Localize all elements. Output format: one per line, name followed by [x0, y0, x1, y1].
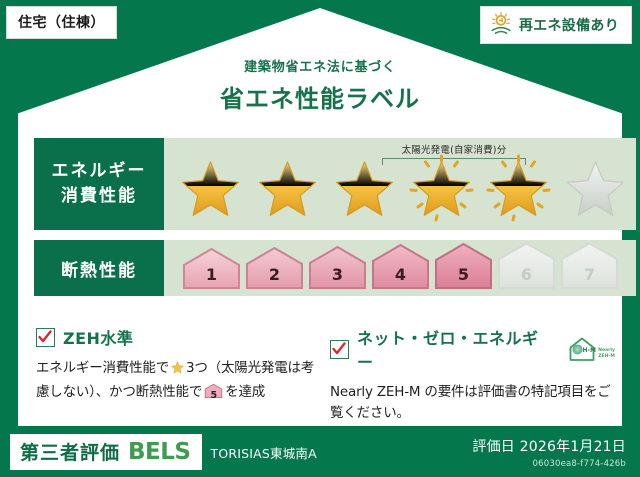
net-zero-checkbox[interactable]: [330, 340, 349, 359]
insulation-level-6: 6: [495, 243, 558, 293]
insulation-level-4-number: 4: [369, 265, 432, 284]
energy-performance-label: 住宅（住棟） 再エネ設備あり 建築物省エ: [0, 0, 640, 477]
inline-house-number: 5: [204, 388, 223, 403]
insulation-level-1: 1: [180, 243, 243, 293]
dwelling-type-tag: 住宅（住棟）: [6, 6, 117, 39]
star-6-empty: [557, 152, 634, 224]
insulation-label-box: 断熱性能: [34, 240, 164, 296]
zeh-m-caption-line2: ZEH-M: [598, 354, 615, 359]
energy-stars-area: 太陽光発電(自家消費)分: [164, 138, 636, 230]
footer-bar: 第三者評価 BELS TORISIAS東城南A 評価日 2026年1月21日 0…: [0, 427, 640, 477]
renewable-energy-badge: 再エネ設備あり: [480, 6, 632, 44]
inline-house-badge: 5: [204, 383, 223, 400]
zeh-desc-part1: エネルギー消費性能で: [36, 360, 169, 376]
insulation-level-5-achieved: 5: [432, 243, 495, 293]
insulation-level-2: 2: [243, 243, 306, 293]
insulation-performance-row: 断熱性能 1: [34, 240, 636, 296]
energy-performance-label-box: エネルギー 消費性能: [34, 138, 164, 230]
star-3: [326, 152, 403, 224]
zeh-desc-part3: を達成: [225, 384, 265, 400]
insulation-level-7: 7: [558, 243, 621, 293]
evaluation-id: 06030ea8-f774-426b: [472, 459, 626, 469]
net-zero-criteria-title: ネット・ゼロ・エネルギー: [357, 325, 553, 373]
energy-label-line1: エネルギー: [52, 159, 147, 184]
zeh-criteria-block: ZEH水準 エネルギー消費性能で 3つ（太陽光発電は考慮しない）、かつ断熱性能で…: [36, 325, 321, 404]
insulation-level-4: 4: [369, 243, 432, 293]
star-4-solar: [403, 152, 480, 224]
renewable-badge-label: 再エネ設備あり: [519, 15, 619, 35]
star-rating: [172, 152, 634, 224]
insulation-level-scale: 1 2: [180, 243, 621, 293]
evaluation-date: 評価日 2026年1月21日: [472, 436, 626, 456]
insulation-level-3-number: 3: [306, 265, 369, 284]
insulation-level-1-number: 1: [180, 265, 243, 284]
net-zero-energy-criteria-block: ネット・ゼロ・エネルギー H-M Nearly ZEH-M: [330, 325, 615, 425]
insulation-level-5-number: 5: [432, 265, 495, 284]
zeh-criteria-description: エネルギー消費性能で 3つ（太陽光発電は考慮しない）、かつ断熱性能で 5を達成: [36, 358, 321, 404]
energy-label-line2: 消費性能: [61, 184, 137, 209]
net-zero-criteria-description: Nearly ZEH-M の要件は評価書の特記項目をご覧ください。: [330, 382, 615, 425]
star-5-solar: [480, 152, 557, 224]
net-zero-criteria-header: ネット・ゼロ・エネルギー H-M Nearly ZEH-M: [330, 325, 615, 373]
label-title: 建築物省エネ法に基づく 省エネ性能ラベル: [0, 56, 640, 114]
insulation-level-7-number: 7: [558, 265, 621, 284]
building-name: TORISIAS東城南A: [210, 443, 316, 462]
insulation-label-text: 断熱性能: [61, 256, 137, 281]
bels-certification-box: 第三者評価 BELS: [10, 434, 202, 470]
zeh-checkbox[interactable]: [36, 328, 55, 347]
insulation-level-6-number: 6: [495, 265, 558, 284]
insulation-level-3: 3: [306, 243, 369, 293]
zeh-criteria-header: ZEH水準: [36, 325, 321, 349]
zeh-m-caption-line1: Nearly: [598, 348, 615, 353]
zeh-criteria-title: ZEH水準: [63, 325, 133, 349]
title-main: 省エネ性能ラベル: [0, 79, 640, 114]
star-2: [249, 152, 326, 224]
insulation-levels-area: 1 2: [164, 240, 636, 296]
svg-text:H-M: H-M: [583, 347, 597, 354]
zeh-m-logo-caption: Nearly ZEH-M: [598, 348, 615, 359]
bels-japanese-label: 第三者評価: [20, 438, 120, 465]
evaluation-info: 評価日 2026年1月21日 06030ea8-f774-426b: [472, 436, 626, 469]
insulation-level-2-number: 2: [243, 265, 306, 284]
star-1: [172, 152, 249, 224]
inline-star-icon: [170, 360, 185, 382]
zeh-m-logo: H-M Nearly ZEH-M: [567, 336, 615, 362]
title-subtitle: 建築物省エネ法に基づく: [0, 56, 640, 75]
sun-renewable-icon: [489, 11, 513, 39]
energy-performance-row: エネルギー 消費性能 太陽光発電(自家消費)分: [34, 138, 636, 230]
bels-logo-text: BELS: [128, 439, 190, 465]
